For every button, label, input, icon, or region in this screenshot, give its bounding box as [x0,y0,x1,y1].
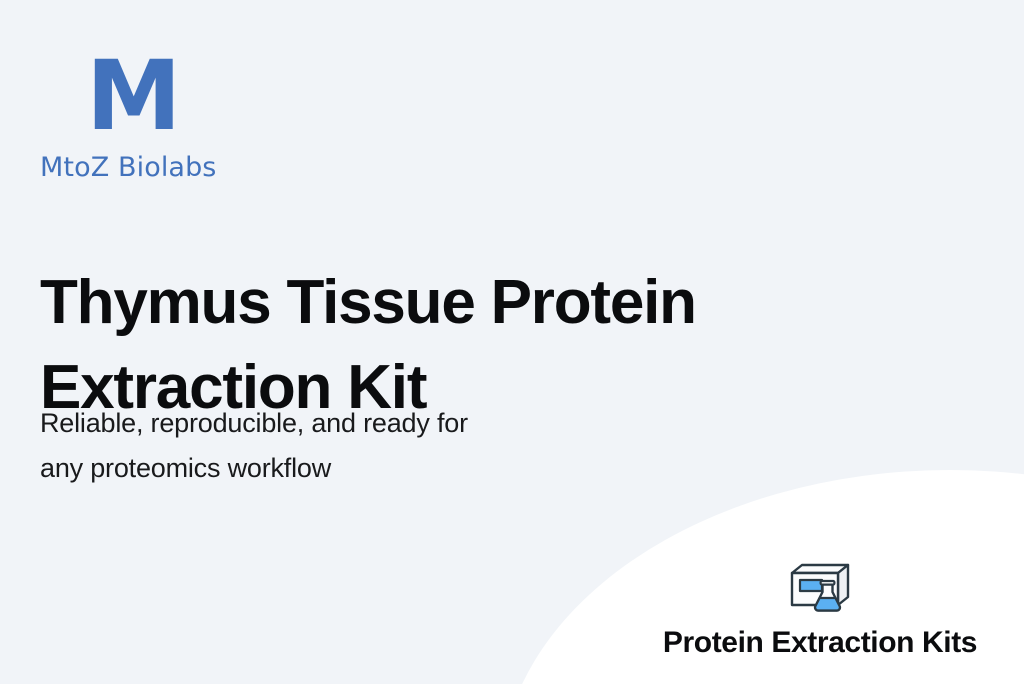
product-badge: Protein Extraction Kits [624,556,1016,660]
logo-monogram-icon: M [86,52,460,144]
logo-wordmark: MtoZ Biolabs [40,152,460,183]
product-badge-caption: Protein Extraction Kits [624,626,1016,660]
subtitle-line-1: Reliable, reproducible, and ready for [40,401,680,446]
kit-box-flask-icon [624,556,1016,618]
brand-logo: M MtoZ Biolabs [40,52,460,183]
page-subtitle: Reliable, reproducible, and ready for an… [40,401,680,492]
promo-banner: M MtoZ Biolabs Thymus Tissue Protein Ext… [0,0,1024,684]
subtitle-line-2: any proteomics workflow [40,446,680,491]
